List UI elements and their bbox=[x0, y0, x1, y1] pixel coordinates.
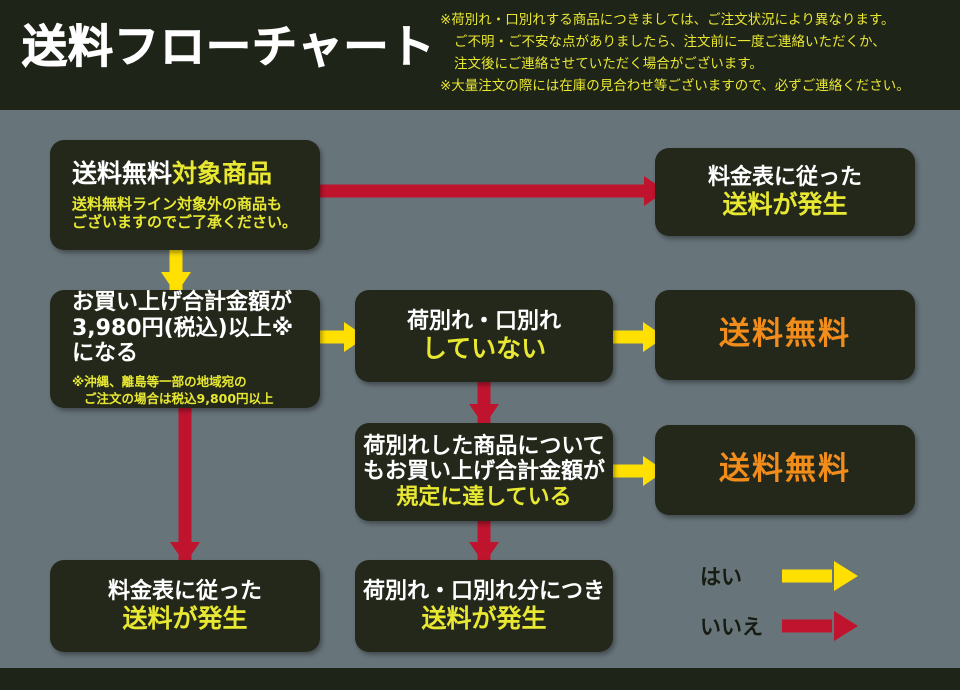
footer-bar bbox=[0, 668, 960, 690]
header-note-line-1: ※荷別れ・口別れする商品につきましては、ご注文状況により異なります。 bbox=[440, 10, 952, 32]
arrow-shaft bbox=[179, 404, 192, 564]
node-split-meets-rule: 荷別れした商品について もお買い上げ合計金額が 規定に達している bbox=[355, 423, 613, 521]
arrow-rule-to-split-fee-red bbox=[464, 518, 504, 564]
node-free-shipping-target-title: 送料無料対象商品 bbox=[72, 159, 320, 188]
arrow-target-to-fee-red bbox=[318, 176, 666, 206]
arrow-target-to-total-yellow bbox=[156, 250, 196, 294]
node-free-shipping-result-2-label: 送料無料 bbox=[719, 452, 851, 488]
page-title: 送料フローチャート bbox=[22, 24, 436, 69]
arrow-shaft bbox=[782, 620, 832, 633]
arrow-total-to-fee-bottom-red bbox=[165, 404, 205, 564]
node-free-shipping-target-title-white: 送料無料 bbox=[72, 159, 172, 188]
node-free-shipping-target: 送料無料対象商品 送料無料ライン対象外の商品も ございますのでご了承ください。 bbox=[50, 140, 320, 250]
node-total-amount-line-1: お買い上げ合計金額が bbox=[72, 290, 320, 316]
node-free-shipping-target-sub-1: 送料無料ライン対象外の商品も bbox=[72, 196, 320, 213]
node-free-shipping-target-title-yellow: 対象商品 bbox=[172, 159, 272, 188]
node-split-fee: 荷別れ・口別れ分につき 送料が発生 bbox=[355, 560, 613, 652]
node-fee-applies-top: 料金表に従った 送料が発生 bbox=[655, 148, 915, 236]
arrow-head bbox=[834, 611, 858, 641]
legend: はい いいえ bbox=[700, 555, 930, 655]
legend-row-yes: はい bbox=[700, 559, 858, 593]
arrow-nosplit-to-rule-red bbox=[464, 380, 504, 426]
node-no-split-line-2: していない bbox=[422, 334, 546, 363]
node-total-amount-line-2: 3,980円(税込)以上※ bbox=[72, 316, 320, 342]
legend-label-yes: はい bbox=[700, 561, 782, 591]
node-split-fee-line-1: 荷別れ・口別れ分につき bbox=[363, 579, 605, 605]
header-bar: 送料フローチャート ※荷別れ・口別れする商品につきましては、ご注文状況により異な… bbox=[0, 0, 960, 110]
arrow-head bbox=[834, 561, 858, 591]
node-split-meets-rule-line-2: もお買い上げ合計金額が bbox=[363, 459, 605, 485]
node-split-meets-rule-line-1: 荷別れした商品について bbox=[363, 434, 604, 460]
node-fee-applies-bottom-line-2: 送料が発生 bbox=[122, 604, 247, 633]
header-note-line-2: ご不明・ご不安な点がありましたら、注文前に一度ご連絡いただくか、 bbox=[440, 32, 952, 54]
node-no-split-line-1: 荷別れ・口別れ bbox=[407, 309, 561, 335]
node-fee-applies-top-line-1: 料金表に従った bbox=[708, 165, 862, 191]
node-total-amount: お買い上げ合計金額が 3,980円(税込)以上※ になる ※沖縄、離島等一部の地… bbox=[50, 290, 320, 408]
arrow-shaft bbox=[782, 570, 832, 583]
arrow-shaft bbox=[318, 185, 666, 198]
node-total-amount-sub-2: ご注文の場合は税込9,800円以上 bbox=[72, 391, 320, 408]
legend-row-no: いいえ bbox=[700, 609, 858, 643]
node-no-split: 荷別れ・口別れ していない bbox=[355, 290, 613, 382]
node-fee-applies-bottom: 料金表に従った 送料が発生 bbox=[50, 560, 320, 652]
header-notes: ※荷別れ・口別れする商品につきましては、ご注文状況により異なります。 ご不明・ご… bbox=[440, 10, 952, 97]
legend-arrow-red-icon bbox=[782, 611, 858, 641]
legend-arrow-yellow-icon bbox=[782, 561, 858, 591]
node-free-shipping-result-2: 送料無料 bbox=[655, 425, 915, 515]
node-free-shipping-result-1-label: 送料無料 bbox=[719, 317, 851, 353]
legend-label-no: いいえ bbox=[700, 611, 782, 641]
node-split-fee-line-2: 送料が発生 bbox=[421, 604, 546, 633]
header-note-line-3: 注文後にご連絡させていただく場合がございます。 bbox=[440, 54, 952, 76]
node-free-shipping-target-sub-2: ございますのでご了承ください。 bbox=[72, 214, 320, 231]
node-total-amount-line-3: になる bbox=[72, 341, 320, 367]
node-fee-applies-top-line-2: 送料が発生 bbox=[722, 190, 847, 219]
node-fee-applies-bottom-line-1: 料金表に従った bbox=[108, 579, 262, 605]
header-note-line-4: ※大量注文の際には在庫の見合わせ等ございますので、必ずご連絡ください。 bbox=[440, 76, 952, 98]
node-split-meets-rule-line-3: 規定に達している bbox=[396, 485, 571, 511]
node-free-shipping-result-1: 送料無料 bbox=[655, 290, 915, 380]
node-total-amount-sub-1: ※沖縄、離島等一部の地域宛の bbox=[72, 374, 320, 391]
